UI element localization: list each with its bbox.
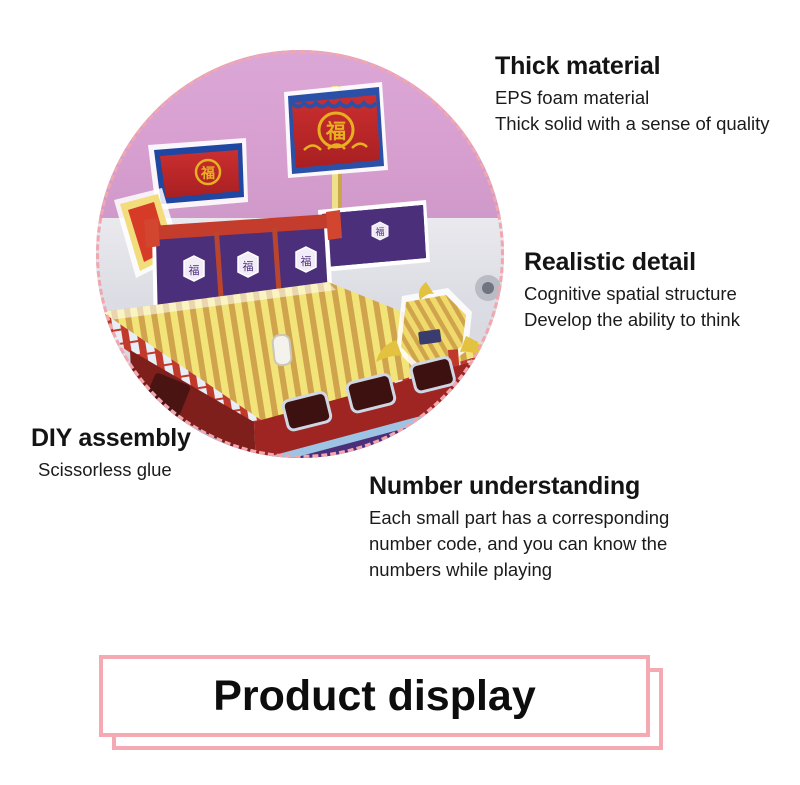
- callout-title: Realistic detail: [524, 248, 794, 278]
- callout-thick-material: Thick material EPS foam material Thick s…: [495, 52, 795, 137]
- callout-line: Thick solid with a sense of quality: [495, 111, 795, 137]
- callout-title: Number understanding: [369, 472, 699, 502]
- pavilion-illustration: 福 福: [96, 50, 504, 458]
- callout-title: DIY assembly: [31, 424, 241, 454]
- callout-realistic-detail: Realistic detail Cognitive spatial struc…: [524, 248, 794, 333]
- callout-title: Thick material: [495, 52, 795, 82]
- svg-text:福: 福: [325, 119, 346, 143]
- banner-frame: Product display: [99, 655, 650, 737]
- svg-text:福: 福: [243, 259, 254, 273]
- product-photo-circle: 福 福: [96, 50, 504, 458]
- callout-line: Cognitive spatial structure: [524, 281, 794, 307]
- product-photo: 福 福: [96, 50, 504, 458]
- callout-line: EPS foam material: [495, 85, 795, 111]
- callout-line: Develop the ability to think: [524, 307, 794, 333]
- svg-text:福: 福: [301, 254, 312, 268]
- large-banner: 福: [284, 82, 388, 178]
- callout-number-understanding: Number understanding Each small part has…: [369, 472, 699, 583]
- svg-text:福: 福: [200, 165, 215, 182]
- product-display-banner: Product display: [99, 655, 650, 737]
- callout-line: numbers while playing: [369, 557, 699, 583]
- callout-line: Scissorless glue: [31, 457, 241, 483]
- banner-title: Product display: [213, 675, 536, 718]
- callout-line: number code, and you can know the: [369, 531, 699, 557]
- callout-line: Each small part has a corresponding: [369, 505, 699, 531]
- svg-text:福: 福: [189, 263, 200, 277]
- svg-text:福: 福: [375, 226, 384, 238]
- poster-stage: 福 福: [0, 0, 800, 785]
- callout-diy-assembly: DIY assembly Scissorless glue: [31, 424, 241, 483]
